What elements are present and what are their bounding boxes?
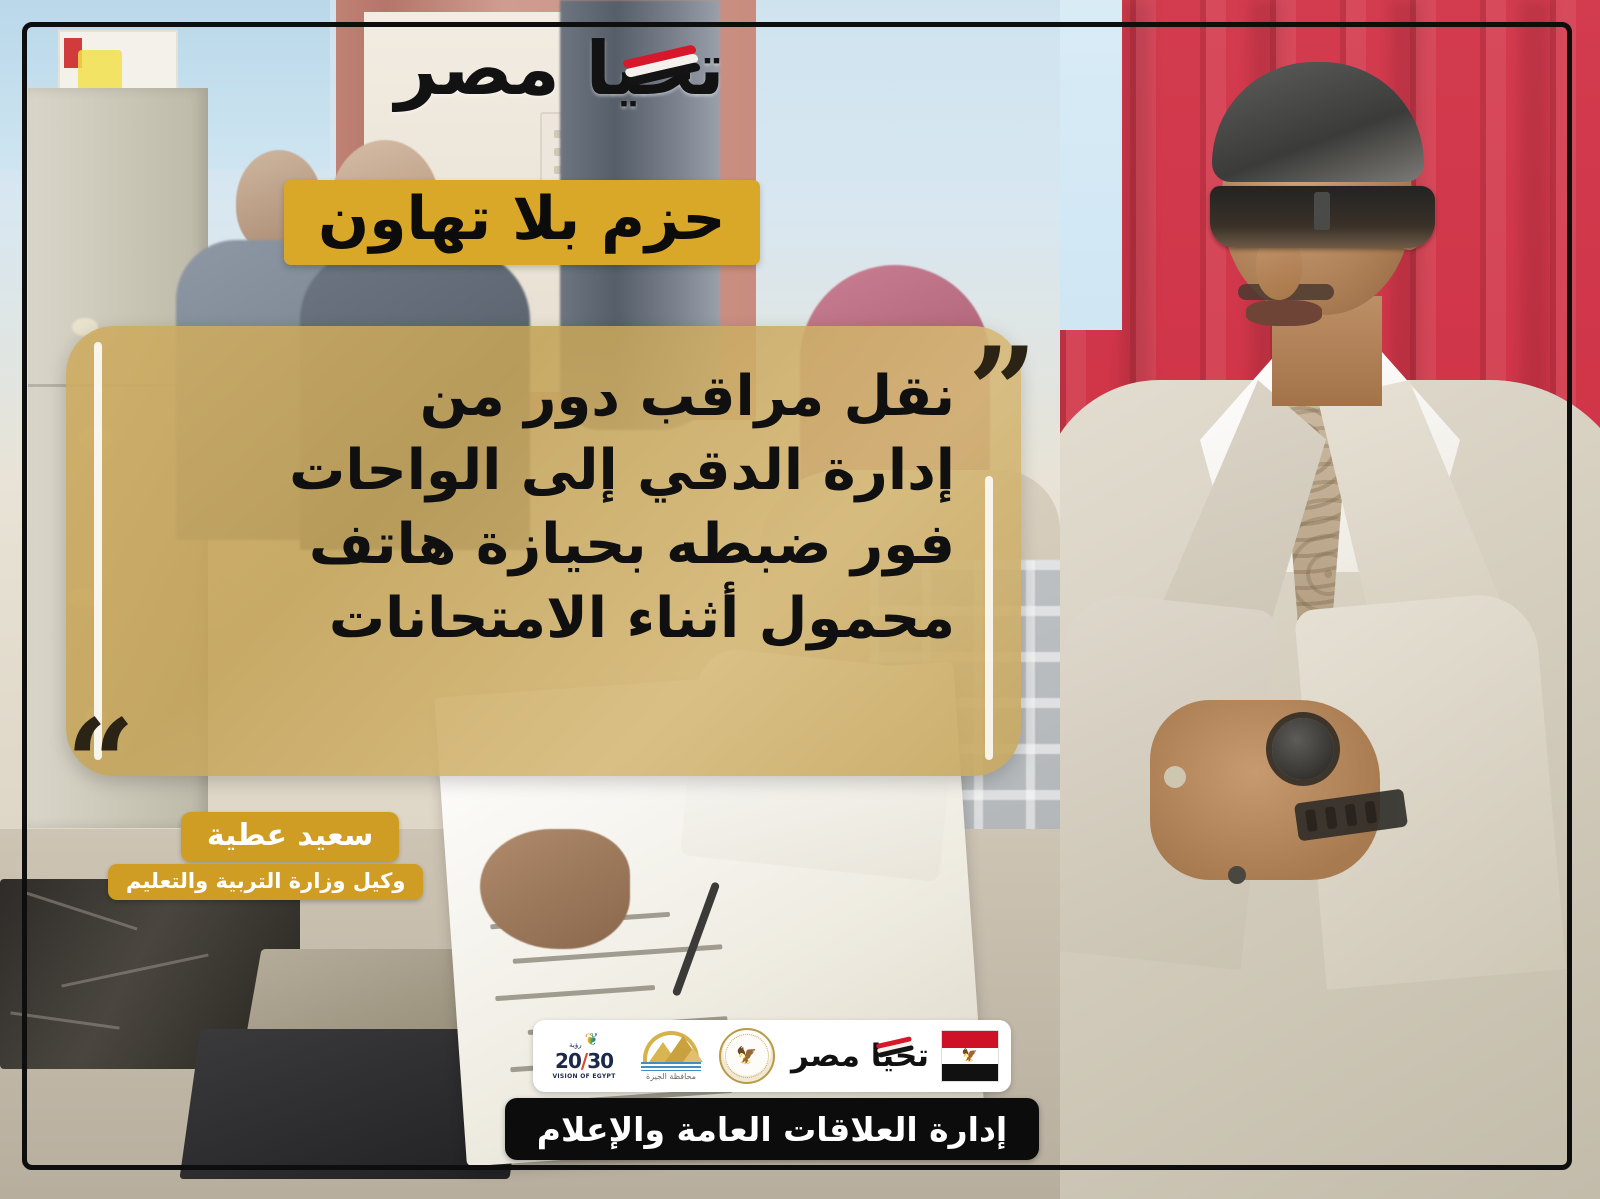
vision-arabic-label: رؤية <box>569 1041 581 1049</box>
poster-canvas: تحيا مصر حزم بلا تهاون ” “ نقل مراقب دور… <box>0 0 1600 1199</box>
giza-caption: محافظة الجيزة <box>646 1072 696 1081</box>
quote-line-1: نقل مراقب دور من <box>176 360 955 434</box>
quote-line-4: محمول أثناء الامتحانات <box>176 582 955 656</box>
eagle-emblem-icon: 🦅 <box>736 1047 757 1066</box>
egypt-flag-icon <box>941 1030 999 1082</box>
quote-line-3: فور ضبطه بحيازة هاتف <box>176 508 955 582</box>
vision-caption: VISION OF EGYPT <box>552 1073 615 1080</box>
quote-card: ” “ نقل مراقب دور من إدارة الدقي إلى الو… <box>66 326 1021 776</box>
vision-number: 20/30 <box>555 1049 613 1073</box>
portrait-clasped-hands <box>1150 700 1380 880</box>
logo-ministry-of-education: 🦅 <box>719 1028 775 1084</box>
official-portrait-photo <box>1060 0 1600 1199</box>
speaker-role: وكيل وزارة التربية والتعليم <box>108 864 423 900</box>
quote-mark-close-icon: “ <box>66 704 135 824</box>
quote-mark-open-icon: ” <box>968 332 1037 452</box>
logo-tahya-masr: تحيا مصر <box>787 1038 929 1074</box>
logo-bar: تحيا مصر 🦅 محافظة الجيزة ❦ رؤية 20/30 <box>533 1020 1011 1092</box>
ministry-of-education-seal-icon: 🦅 <box>719 1028 775 1084</box>
quote-text: نقل مراقب دور من إدارة الدقي إلى الواحات… <box>176 360 955 656</box>
giza-governorate-logo-icon <box>639 1031 703 1071</box>
vision-number-left: 20 <box>555 1049 581 1073</box>
footer-text: إدارة العلاقات العامة والإعلام <box>537 1110 1007 1149</box>
ring-icon <box>1164 766 1186 788</box>
headline-text: حزم بلا تهاون <box>318 184 726 254</box>
vision-number-right: 30 <box>587 1049 613 1073</box>
portrait-mouth <box>1246 300 1322 326</box>
tahya-masr-logo: تحيا مصر <box>395 32 725 106</box>
logo-giza-governorate: محافظة الجيزة <box>635 1031 707 1081</box>
wristwatch-icon <box>1272 718 1334 780</box>
attribution-block: سعيد عطية وكيل وزارة التربية والتعليم <box>108 812 399 900</box>
vision-tulip-icon: ❦ <box>585 1032 599 1049</box>
portrait-suit-button <box>1228 866 1246 884</box>
headline-banner: حزم بلا تهاون <box>284 180 760 265</box>
portrait-wall <box>1060 0 1122 330</box>
logo-egypt-flag <box>941 1030 999 1082</box>
speaker-name: سعيد عطية <box>181 812 400 862</box>
quote-line-2: إدارة الدقي إلى الواحات <box>176 434 955 508</box>
sunglasses-icon <box>1210 186 1435 248</box>
footer-bar: إدارة العلاقات العامة والإعلام <box>505 1098 1039 1160</box>
logo-vision-2030: ❦ رؤية 20/30 VISION OF EGYPT <box>545 1032 623 1080</box>
